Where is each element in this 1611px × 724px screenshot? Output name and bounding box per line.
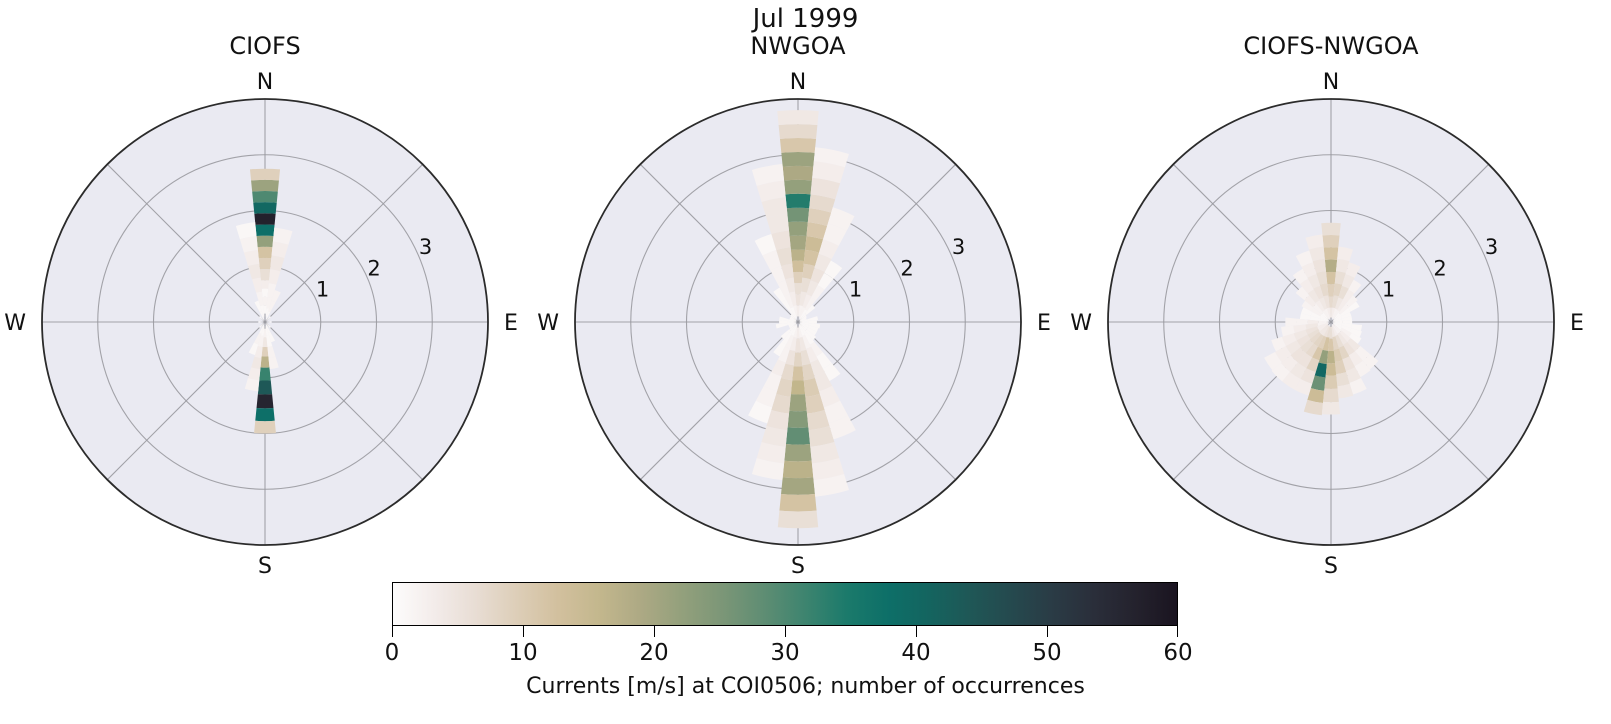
polar-bars-ciofs	[236, 169, 293, 434]
polar-bar-segment	[1351, 324, 1362, 331]
polar-bar-segment	[815, 254, 832, 272]
polar-grid-circle	[1164, 155, 1499, 490]
polar-bar-segment	[783, 166, 814, 181]
polar-bar-segment	[258, 380, 272, 394]
polar-bar-segment	[1324, 375, 1337, 389]
polar-bar-segment	[766, 214, 789, 234]
polar-bar-segment	[1346, 295, 1358, 307]
polar-bar-segment	[266, 297, 272, 309]
polar-bar-segment	[785, 350, 795, 366]
polar-bar-segment	[254, 333, 261, 345]
polar-bar-segment	[1320, 319, 1329, 322]
polar-bar-segment	[1324, 326, 1330, 337]
colorbar-tick	[916, 626, 917, 637]
compass-label-w: W	[4, 311, 26, 336]
figure-root: Jul 1999 CIOFSNSEW123NWGOANSEW123CIOFS-N…	[0, 0, 1611, 724]
polar-bar-segment	[266, 316, 271, 321]
polar-bar-segment	[1324, 309, 1329, 319]
polar-bars-ciofs-nwgoa	[1264, 223, 1378, 415]
polar-grid-circle	[742, 266, 854, 378]
colorbar-tick-label: 20	[639, 640, 668, 666]
polar-bar-segment	[262, 289, 269, 297]
polar-bar-segment	[794, 283, 802, 294]
polar-background	[575, 99, 1021, 545]
polar-bar-segment	[259, 324, 264, 333]
polar-bar-segment	[776, 323, 788, 328]
polar-bar-segment	[255, 408, 274, 421]
polar-bar-segment	[1308, 290, 1320, 303]
polar-bar-segment	[786, 427, 810, 444]
polar-bar-segment	[1322, 402, 1340, 415]
polar-bar-segment	[268, 301, 275, 313]
polar-bar-segment	[808, 320, 817, 324]
polar-bar-segment	[1326, 363, 1337, 375]
polar-bar-segment	[799, 307, 805, 318]
polar-grid-circle	[154, 211, 377, 434]
polar-bar-segment	[812, 161, 845, 183]
polar-bar-segment	[1335, 360, 1346, 374]
polar-bar-segment	[1311, 312, 1321, 319]
polar-grid-circle	[98, 155, 433, 490]
polar-bar-segment	[257, 394, 274, 408]
colorbar-tick-label: 40	[901, 640, 930, 666]
polar-bar-segment	[1332, 325, 1338, 336]
polar-bar-segment	[789, 323, 796, 328]
polar-bar-segment	[812, 458, 844, 480]
polar-bar-segment	[254, 301, 261, 313]
compass-label-w: W	[537, 311, 559, 336]
polar-bar-segment	[757, 181, 786, 202]
polar-bar-segment	[263, 329, 266, 338]
polar-bar-segment	[1336, 372, 1350, 386]
polar-bar-segment	[790, 236, 807, 250]
polar-bar-segment	[249, 343, 258, 355]
polar-bar-segment	[1355, 346, 1370, 361]
polar-bar-segment	[771, 359, 786, 376]
radial-tick-label: 1	[849, 278, 862, 302]
polar-bar-segment	[811, 268, 825, 284]
polar-bar-segment	[811, 285, 824, 300]
polar-bar-segment	[1272, 363, 1290, 381]
polar-bar-segment	[748, 401, 772, 424]
colorbar-tick	[523, 626, 524, 637]
polar-bar-segment	[776, 378, 792, 397]
polar-bar-segment	[780, 138, 816, 153]
polar-bar-segment	[782, 332, 792, 344]
polar-bar-segment	[823, 223, 847, 245]
compass-label-n: N	[790, 70, 806, 95]
polar-bar-segment	[1333, 313, 1340, 320]
polar-bar-segment	[789, 318, 796, 322]
polar-bar-segment	[1336, 259, 1349, 273]
polar-bar-segment	[771, 394, 790, 414]
compass-label-e: E	[1037, 311, 1051, 336]
polar-bar-segment	[251, 357, 261, 369]
polar-bar-segment	[1346, 367, 1361, 383]
radial-tick-label: 3	[419, 235, 432, 259]
polar-bar-segment	[791, 250, 805, 261]
polar-bar-segment	[755, 234, 777, 256]
polar-bar-segment	[1322, 235, 1339, 248]
polar-bar-segment	[763, 250, 781, 270]
polar-bar-segment	[800, 322, 809, 325]
polar-bar-segment	[799, 325, 805, 336]
polar-bar-segment	[259, 258, 272, 269]
polar-bar-segment	[1306, 344, 1318, 358]
polar-bar-segment	[1327, 284, 1334, 296]
polar-bar-segment	[1305, 234, 1323, 249]
polar-bar-segment	[808, 325, 818, 332]
polar-bar-segment	[1342, 316, 1352, 321]
polar-bar-segment	[805, 305, 815, 315]
polar-bar-segment	[1319, 350, 1328, 364]
polar-bar-segment	[1319, 324, 1329, 334]
polar-bar-segment	[266, 323, 271, 328]
polar-bar-segment	[785, 278, 795, 293]
polar-bar-segment	[762, 197, 788, 218]
polar-bar-segment	[791, 325, 797, 336]
polar-bar-segment	[795, 339, 801, 353]
polar-bar-segment	[260, 305, 264, 316]
polar-bar-segment	[1340, 308, 1350, 316]
polar-bar-segment	[1350, 328, 1362, 337]
polar-bar-segment	[779, 494, 816, 512]
polar-bar-segment	[782, 299, 792, 311]
polar-bar-segment	[1281, 355, 1298, 372]
polar-bar-segment	[803, 294, 812, 308]
polar-bar-segment	[1290, 363, 1306, 380]
colorbar-tick-label: 0	[385, 640, 400, 666]
polar-bar-segment	[1348, 301, 1359, 311]
polar-bar-segment	[261, 326, 265, 336]
polar-bar-segment	[801, 278, 811, 293]
polar-bar-segment	[1305, 326, 1318, 334]
polar-bar-segment	[1338, 286, 1348, 300]
polar-grid-spoke	[1173, 322, 1331, 480]
polar-bar-segment	[799, 323, 806, 330]
polar-bars-nwgoa	[748, 110, 856, 528]
polar-bar-segment	[1339, 330, 1350, 341]
polar-bar-segment	[770, 266, 785, 284]
polar-bar-segment	[1342, 356, 1355, 371]
polar-bar-segment	[1307, 388, 1324, 403]
polar-bar-segment	[784, 180, 812, 195]
polar-bar-segment	[259, 316, 264, 321]
polar-bar-segment	[810, 442, 839, 463]
polar-bar-segment	[819, 386, 840, 407]
polar-bar-segment	[1318, 324, 1328, 332]
polar-bar-segment	[1347, 338, 1360, 351]
polar-bar-segment	[799, 313, 806, 320]
polar-bar-segment	[271, 290, 280, 302]
polar-grid-spoke	[265, 164, 423, 322]
polar-bar-segment	[809, 194, 835, 212]
polar-bar-segment	[766, 410, 789, 430]
compass-label-n: N	[1323, 70, 1339, 95]
polar-bar-segment	[1285, 318, 1296, 327]
polar-grid-spoke	[798, 322, 956, 480]
polar-bar-segment	[778, 347, 790, 363]
polar-bar-segment	[787, 322, 796, 325]
polar-bar-segment	[248, 264, 261, 280]
polar-bar-segment	[1323, 389, 1339, 403]
polar-bar-segment	[1310, 316, 1320, 321]
polar-bar-segment	[789, 394, 806, 411]
polar-bar-segment	[799, 318, 806, 322]
polar-bar-segment	[798, 326, 802, 337]
polar-bar-segment	[1346, 262, 1361, 278]
colorbar-tick-label: 50	[1032, 640, 1061, 666]
colorbar-tick-label: 10	[508, 640, 537, 666]
polar-bar-segment	[779, 124, 818, 139]
polar-bar-segment	[779, 317, 788, 322]
compass-label-e: E	[1570, 311, 1584, 336]
polar-bar-segment	[809, 426, 835, 447]
polar-bar-segment	[810, 359, 825, 376]
polar-bar-segment	[258, 247, 273, 258]
radial-tick-label: 1	[1382, 278, 1395, 302]
colorbar-tick	[785, 626, 786, 637]
polar-bar-segment	[245, 378, 259, 391]
polar-bar-segment	[811, 178, 841, 200]
polar-bar-segment	[1330, 308, 1333, 318]
polar-bar-segment	[1343, 290, 1355, 303]
polar-bar-segment	[784, 294, 793, 308]
polar-bar-segment	[1313, 334, 1323, 347]
polar-bar-segment	[800, 321, 808, 323]
polar-bar-segment	[1321, 325, 1329, 336]
polar-bar-segment	[1300, 313, 1311, 320]
polar-bar-segment	[236, 222, 257, 239]
radial-tick-label: 3	[1485, 235, 1498, 259]
polar-bar-segment	[261, 280, 269, 289]
polar-bar-segment	[1311, 308, 1321, 316]
polar-bar-segment	[1337, 300, 1346, 311]
polar-bar-segment	[800, 316, 807, 321]
polar-grid-circle	[1275, 266, 1387, 378]
polar-bar-segment	[1339, 346, 1350, 360]
polar-bar-segment	[1320, 317, 1328, 321]
polar-bar-segment	[793, 272, 803, 283]
polar-bar-segment	[1294, 330, 1308, 341]
polar-bar-segment	[259, 367, 270, 380]
polar-bar-segment	[808, 208, 831, 226]
polar-bar-segment	[1349, 351, 1363, 366]
polar-bar-segment	[266, 335, 272, 347]
polar-bar-segment	[801, 350, 811, 366]
polar-bar-segment	[1342, 320, 1352, 324]
polar-bar-segment	[1332, 309, 1337, 319]
colorbar-tick	[392, 626, 393, 637]
polar-bar-segment	[1333, 322, 1342, 325]
polar-grid-spoke	[640, 164, 798, 322]
polar-bar-segment	[254, 421, 276, 434]
polar-bar-segment	[791, 380, 805, 394]
polar-bar-segment	[1301, 368, 1316, 384]
compass-label-n: N	[257, 70, 273, 95]
compass-label-s: S	[791, 554, 805, 579]
polar-outer-spine	[575, 99, 1021, 545]
colorbar-gradient	[392, 582, 1178, 626]
polar-bar-segment	[262, 347, 269, 357]
polar-bar-segment	[244, 250, 259, 266]
panel-title-ciofs-nwgoa: CIOFS-NWGOA	[1081, 32, 1581, 60]
compass-label-s: S	[258, 554, 272, 579]
polar-bar-segment	[267, 283, 276, 298]
figure-suptitle: Jul 1999	[0, 4, 1611, 34]
radial-tick-label: 2	[367, 256, 380, 280]
polar-bar-segment	[1293, 269, 1308, 284]
polar-outer-spine	[42, 99, 488, 545]
polar-bar-segment	[266, 311, 270, 319]
polar-bar-segment	[1313, 259, 1326, 273]
polar-bar-segment	[1316, 271, 1327, 285]
polar-bar-segment	[250, 169, 280, 181]
colorbar-tick	[1177, 626, 1178, 637]
polar-bar-segment	[1339, 304, 1349, 314]
polar-bar-segment	[1342, 323, 1352, 328]
polar-bar-segment	[254, 213, 275, 225]
polar-bar-segment	[791, 307, 797, 318]
polar-bar-segment	[1312, 347, 1323, 361]
polar-bar-segment	[788, 222, 808, 236]
polar-bar-segment	[1337, 332, 1347, 344]
polar-grid-spoke	[265, 322, 423, 480]
polar-bar-segment	[1309, 247, 1325, 262]
polar-bar-segment	[789, 323, 796, 330]
polar-bar-segment	[1264, 352, 1282, 370]
polar-bar-segment	[1297, 335, 1311, 347]
polar-bar-segment	[1302, 262, 1317, 278]
polar-bar-segment	[788, 319, 796, 322]
radial-tick-label: 2	[1433, 256, 1446, 280]
radial-tick-label: 3	[952, 235, 965, 259]
polar-bar-segment	[1296, 251, 1313, 267]
polar-background	[42, 99, 488, 545]
polar-bar-segment	[1319, 321, 1328, 323]
polar-bar-segment	[807, 410, 830, 430]
polar-bar-segment	[1295, 379, 1313, 396]
polar-bar-segment	[1333, 310, 1340, 319]
polar-outer-spine	[1108, 99, 1554, 545]
polar-bar-segment	[810, 342, 823, 357]
polar-bar-segment	[824, 261, 842, 279]
colorbar-label: Currents [m/s] at COI0506; number of occ…	[0, 674, 1611, 699]
polar-grid-spoke	[798, 164, 956, 322]
polar-bar-segment	[263, 338, 268, 348]
polar-bar-segment	[800, 319, 808, 322]
colorbar-tick-label: 60	[1163, 640, 1192, 666]
polar-bar-segment	[816, 352, 831, 369]
polar-grid-spoke	[1331, 322, 1489, 480]
polar-bar-segment	[808, 316, 818, 321]
polar-bar-segment	[771, 230, 790, 250]
polar-bar-segment	[1335, 271, 1346, 285]
polar-bar-segment	[1341, 325, 1351, 332]
polar-bar-segment	[1304, 400, 1323, 415]
polar-bar-segment	[1298, 353, 1312, 368]
polar-bar-segment	[1282, 333, 1297, 346]
polar-bar-segment	[802, 335, 811, 349]
polar-bar-segment	[784, 444, 811, 461]
polar-bar-segment	[252, 278, 262, 293]
panel-title-ciofs: CIOFS	[15, 32, 515, 60]
polar-bar-segment	[1321, 223, 1340, 236]
polar-bar-segment	[800, 309, 808, 319]
polar-bar-segment	[792, 366, 803, 380]
polar-bar-segment	[266, 308, 270, 317]
polar-bar-segment	[783, 461, 814, 478]
polar-bar-segment	[799, 305, 803, 316]
polar-grid-spoke	[1331, 164, 1489, 322]
polar-bar-segment	[273, 228, 293, 245]
polar-bar-segment	[828, 207, 855, 231]
polar-bar-segment	[799, 324, 806, 334]
polar-bar-segment	[1300, 340, 1313, 353]
polar-bar-segment	[1326, 272, 1336, 284]
polar-bar-segment	[796, 305, 799, 316]
colorbar-tick	[654, 626, 655, 637]
polar-bar-segment	[788, 411, 809, 428]
polar-bar-segment	[805, 329, 816, 340]
polar-bar-segment	[272, 242, 289, 258]
polar-bar-segment	[1318, 336, 1327, 349]
polar-bar-segment	[263, 305, 266, 313]
polar-bar-segment	[1337, 384, 1353, 399]
polar-bar-segment	[818, 273, 834, 290]
polar-grid-spoke	[640, 322, 798, 480]
compass-label-w: W	[1070, 311, 1092, 336]
polar-bar-segment	[800, 291, 807, 306]
polar-bar-segment	[805, 297, 816, 310]
polar-bar-segment	[756, 386, 777, 407]
polar-grid-circle	[687, 211, 910, 434]
polar-bar-segment	[824, 401, 848, 424]
polar-bar-segment	[1317, 323, 1328, 329]
polar-bar-segment	[269, 269, 281, 284]
polar-bar-segment	[1271, 337, 1286, 352]
polar-bar-segment	[1333, 323, 1342, 328]
polar-bar-segment	[788, 323, 796, 327]
polar-bar-segment	[269, 357, 279, 369]
polar-bar-segment	[1296, 319, 1307, 326]
polar-bar-segment	[804, 250, 819, 266]
polar-bar-segment	[1335, 335, 1343, 348]
polar-bar-segment	[800, 323, 809, 328]
polar-bar-segment	[805, 394, 824, 414]
polar-bar-segment	[800, 323, 808, 329]
polar-bar-segment	[804, 378, 820, 397]
polar-bar-segment	[1281, 326, 1295, 337]
polar-bar-segment	[1323, 337, 1330, 351]
polar-bar-segment	[777, 110, 819, 125]
polar-bar-segment	[789, 291, 796, 306]
polar-bar-segment	[1333, 323, 1342, 329]
polar-bar-segment	[1332, 295, 1338, 308]
polar-bar-segment	[752, 458, 784, 480]
polar-bar-segment	[258, 335, 264, 347]
polar-bar-segment	[1307, 329, 1319, 339]
polar-bar-segment	[258, 321, 263, 322]
polar-grid-circle	[209, 266, 321, 378]
polar-bar-segment	[266, 324, 270, 332]
polar-bar-segment	[1313, 286, 1323, 300]
polar-bar-segment	[793, 326, 797, 337]
polar-bar-segment	[1335, 297, 1343, 309]
polar-grid-circle	[1220, 211, 1443, 434]
polar-bar-segment	[1301, 307, 1312, 316]
polar-bar-segment	[1304, 295, 1316, 307]
